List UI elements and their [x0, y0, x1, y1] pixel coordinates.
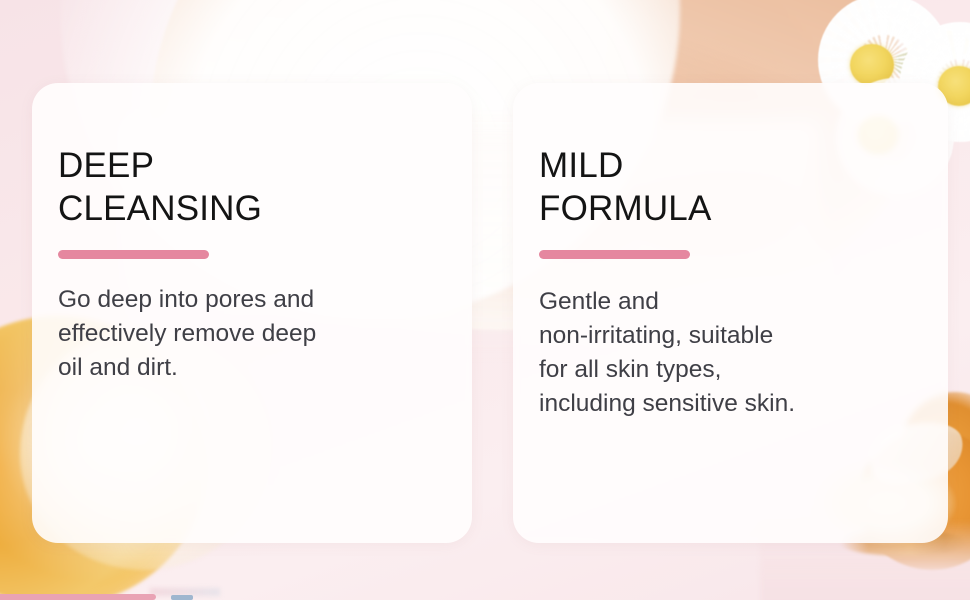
feature-card-deep-cleansing[interactable]: DEEP CLEANSING Go deep into pores and ef… — [32, 83, 472, 543]
accent-bar — [539, 250, 690, 259]
footer-pink-bar — [0, 594, 156, 600]
footer-blue-chip — [171, 595, 193, 600]
card-description: Go deep into pores and effectively remov… — [58, 283, 442, 384]
feature-card-mild-formula[interactable]: MILD FORMULA Gentle and non-irritating, … — [513, 83, 948, 543]
card-title: MILD FORMULA — [539, 145, 918, 230]
accent-bar — [58, 250, 209, 259]
page-canvas: DEEP CLEANSING Go deep into pores and ef… — [0, 0, 970, 600]
card-description: Gentle and non-irritating, suitable for … — [539, 285, 918, 420]
card-title: DEEP CLEANSING — [58, 145, 442, 230]
